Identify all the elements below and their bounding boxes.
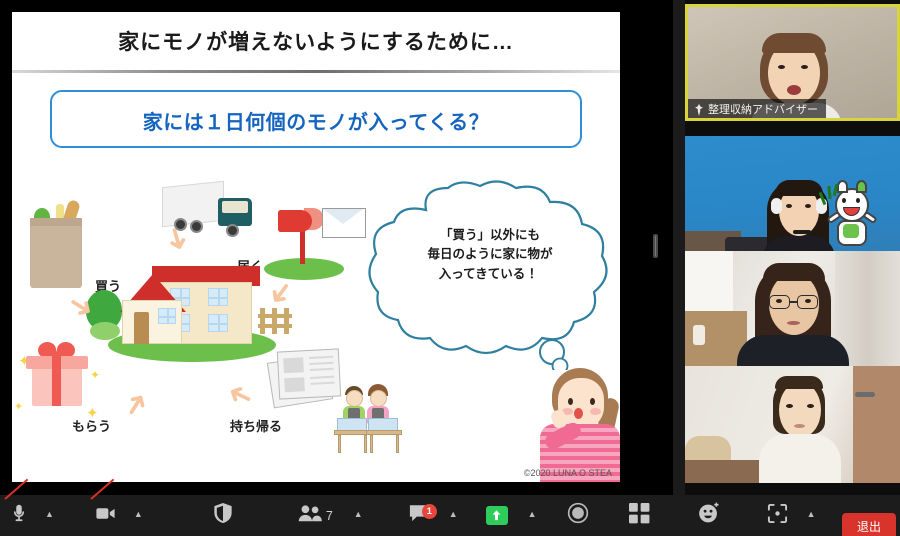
shield-icon [213,502,233,529]
newspaper-sheet [277,348,341,399]
breakout-rooms-button[interactable] [629,495,650,536]
desk-leg [396,435,399,453]
participant-eye [801,65,808,69]
bag-body-shape [30,226,82,288]
label-bring-home: 持ち帰る [230,416,282,435]
leave-meeting-button[interactable]: 退出 [842,513,896,536]
participant-face [779,382,821,438]
participant-eye [807,404,814,408]
door-handle [855,392,875,397]
truck-wheel [226,224,239,237]
headset-mic [793,230,811,234]
audio-options-caret[interactable]: ▲ [40,495,54,536]
participant-body [737,335,849,368]
arrow-news-to-house: ➜ [223,376,258,414]
chevron-up-icon: ▲ [528,510,537,519]
share-screen-icon [486,506,508,525]
bubble-line: 入ってきている ！ [364,265,616,284]
shared-screen-stage[interactable]: 家にモノが増えないようにするために… 家には１日何個のモノが入ってくる？ 買う [0,0,673,495]
house-window [208,314,228,332]
door-object [853,366,900,483]
panel-drag-handle[interactable] [653,234,658,258]
presentation-slide: 家にモノが増えないようにするために… 家には１日何個のモノが入ってくる？ 買う [12,12,620,482]
video-tile-3[interactable] [685,251,900,368]
arrow-gift-to-house: ➜ [117,386,156,423]
desk-leg [364,435,367,453]
thought-bubble-text: 「買う」以外にも 毎日のように家に物が 入ってきている ！ [364,226,616,284]
house-window [158,308,176,324]
envelope-illustration [322,208,366,238]
mute-audio-button[interactable] [8,495,30,536]
chevron-up-icon: ▲ [449,510,458,519]
furniture-object [685,436,731,462]
thought-bubble: 「買う」以外にも 毎日のように家に物が 入ってきている ！ [364,180,616,370]
participant-fringe [775,376,823,389]
label-receive: もらう [72,416,111,435]
breakout-rooms-icon [629,503,650,529]
meeting-toolbar: ▲ ▲ [0,495,900,536]
participant-eye [786,404,793,408]
participant-fringe [775,180,823,196]
window-object [685,251,733,311]
mailbox-body-shape [278,210,312,232]
student-head [346,390,363,407]
participant-eye [786,204,792,208]
security-button[interactable] [213,495,233,536]
microphone-muted-icon [8,502,30,529]
sparkle-icon: ✦ [14,400,23,413]
video-tile-4[interactable] [685,366,900,483]
slide-copyright: ©2020 LUNA O STEA [524,468,612,478]
arrow-truck-to-house: ➜ [159,223,195,255]
participant-eye [805,299,811,303]
woman-cheek [590,408,601,415]
headset-earpiece [771,198,782,214]
chat-unread-badge: 1 [422,504,437,519]
participant-mouth [787,321,800,325]
slide-title: 家にモノが増えないようにするために… [12,26,620,56]
video-options-caret[interactable]: ▲ [129,495,143,536]
bush-shape [90,322,120,340]
slide-question-box: 家には１日何個のモノが入ってくる？ [50,90,582,148]
house-door-shape [134,312,149,344]
glasses-bridge [790,301,797,303]
bubble-line: 毎日のように家に物が [364,245,616,264]
slide-question-text: 家には１日何個のモノが入ってくる？ [52,106,580,135]
sparkle-icon: ✦ [90,368,100,382]
participants-options-caret[interactable]: ▲ [349,495,363,536]
record-button[interactable] [567,495,589,536]
chevron-up-icon: ▲ [354,510,363,519]
reactions-smiley-icon [698,502,721,529]
student-head [370,390,387,407]
chat-button[interactable]: 1 [408,495,430,536]
woman-eye [590,398,595,405]
video-tile-1[interactable]: 整理収納アドバイザー [685,4,900,121]
desk-leg [370,435,373,453]
pin-icon [694,103,703,114]
slide-title-divider [12,70,620,73]
chat-options-caret[interactable]: ▲ [444,495,458,536]
chevron-up-icon: ▲ [807,510,816,519]
house-window [208,288,228,306]
woman-eye [568,398,573,405]
participants-button[interactable]: 7 [298,495,333,536]
video-tile-2[interactable] [685,136,900,253]
chevron-up-icon: ▲ [134,510,143,519]
bubble-line: 「買う」以外にも [364,226,616,245]
apps-options-caret[interactable]: ▲ [802,495,816,536]
apps-bracket-icon [767,503,788,529]
participant-fringe [763,263,825,281]
reactions-button[interactable] [698,495,721,536]
participant-name-text: 整理収納アドバイザー [708,101,818,117]
participant-mouth [787,85,801,95]
participant-mouth [794,424,805,428]
record-icon [567,502,589,529]
zoom-meeting-window: 家にモノが増えないようにするために… 家には１日何個のモノが入ってくる？ 買う [0,0,900,536]
participant-eye [776,299,782,303]
slide-title-bar: 家にモノが増えないようにするために… [12,12,620,70]
woman-mouth [574,408,583,419]
participant-body [759,434,841,483]
video-stopped-icon [94,502,117,530]
vase-object [693,325,705,345]
gift-ribbon-shape [52,356,61,406]
stop-video-button[interactable] [94,495,117,536]
participant-name-tag: 整理収納アドバイザー [688,99,826,118]
apps-button[interactable] [767,495,788,536]
participant-eye [805,204,811,208]
participant-fringe [762,33,826,53]
desk-leg [338,435,341,453]
truck-window-shape [222,201,248,213]
participants-icon [298,503,322,528]
share-screen-button[interactable] [486,495,508,536]
participant-eye [778,65,785,69]
chat-icon: 1 [408,503,430,528]
share-options-caret[interactable]: ▲ [523,495,537,536]
chevron-up-icon: ▲ [45,510,54,519]
video-thumbnail-strip: 整理収納アドバイザー [685,0,900,495]
participants-count: 7 [326,509,333,523]
